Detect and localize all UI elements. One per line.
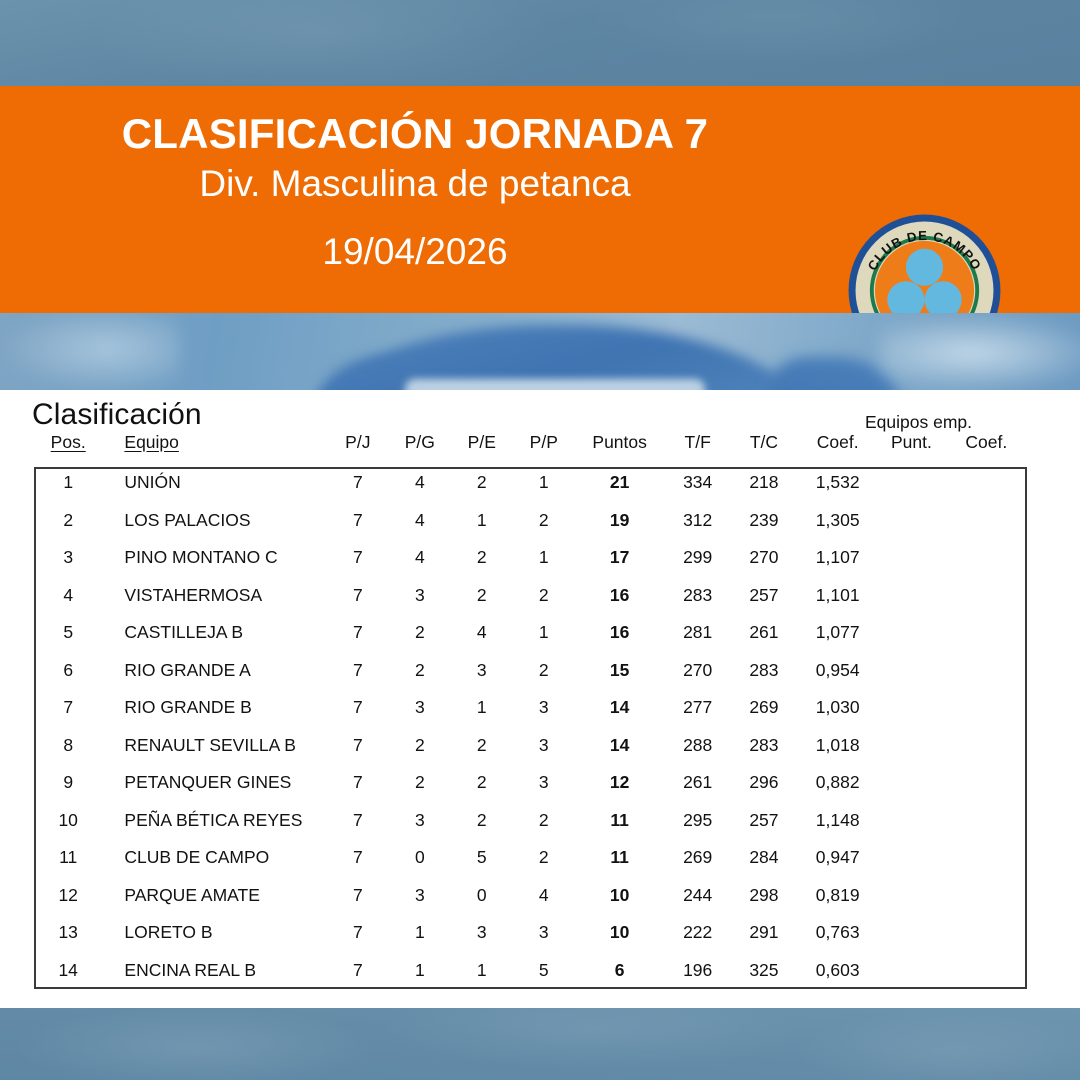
poster-root: CLASIFICACIÓN JORNADA 7 Div. Masculina d…: [0, 0, 1080, 1080]
cell-coef: 1,532: [797, 464, 878, 502]
cell-tc: 325: [731, 952, 797, 990]
cell-pe: 4: [451, 614, 513, 652]
table-row: 9PETANQUER GINES7223122612960,882: [34, 764, 1028, 802]
cell-emp-coef: [945, 464, 1028, 502]
cell-pj: 7: [327, 764, 389, 802]
cell-pj: 7: [327, 877, 389, 915]
col-header-equipo: Equipo: [102, 432, 326, 464]
cell-equipo: RIO GRANDE A: [102, 652, 326, 690]
col-header-emp-punt: Punt.: [878, 432, 944, 464]
cell-pe: 1: [451, 952, 513, 990]
cell-equipo: LORETO B: [102, 914, 326, 952]
cell-coef: 0,763: [797, 914, 878, 952]
cell-pp: 1: [513, 614, 575, 652]
page-title: CLASIFICACIÓN JORNADA 7: [122, 110, 708, 157]
cell-pj: 7: [327, 464, 389, 502]
col-header-pe: P/E: [451, 432, 513, 464]
cell-equipo: LOS PALACIOS: [102, 502, 326, 540]
cell-pg: 4: [389, 502, 451, 540]
cell-pos: 13: [34, 914, 102, 952]
cell-pg: 1: [389, 914, 451, 952]
standings-tbody: 1UNIÓN7421213342181,5322LOS PALACIOS7412…: [34, 464, 1028, 989]
cell-puntos: 19: [575, 502, 665, 540]
cell-pp: 3: [513, 914, 575, 952]
cell-pos: 4: [34, 577, 102, 615]
page-subtitle: Div. Masculina de petanca: [199, 161, 630, 207]
cell-pj: 7: [327, 689, 389, 727]
cell-tc: 291: [731, 914, 797, 952]
middle-photo-band: [0, 313, 1080, 390]
cell-tc: 284: [731, 839, 797, 877]
cell-puntos: 16: [575, 577, 665, 615]
cell-pp: 3: [513, 764, 575, 802]
col-header-emp-coef: Coef.: [945, 432, 1028, 464]
cell-pos: 8: [34, 727, 102, 765]
cell-pg: 3: [389, 802, 451, 840]
cell-tc: 296: [731, 764, 797, 802]
cell-tf: 269: [665, 839, 731, 877]
standings-table: Pos. Equipo P/J P/G P/E P/P Puntos T/F T…: [34, 432, 1028, 989]
cell-pos: 12: [34, 877, 102, 915]
cell-pos: 1: [34, 464, 102, 502]
cell-pp: 1: [513, 464, 575, 502]
cell-pos: 9: [34, 764, 102, 802]
photo-boule-rim: [405, 379, 705, 390]
cell-pj: 7: [327, 539, 389, 577]
cell-puntos: 11: [575, 839, 665, 877]
cell-tf: 334: [665, 464, 731, 502]
cell-emp-coef: [945, 614, 1028, 652]
cell-coef: 1,305: [797, 502, 878, 540]
cell-pos: 10: [34, 802, 102, 840]
cell-pj: 7: [327, 914, 389, 952]
cell-emp-punt: [878, 764, 944, 802]
cell-equipo: ENCINA REAL B: [102, 952, 326, 990]
cell-pos: 3: [34, 539, 102, 577]
cell-pg: 3: [389, 877, 451, 915]
header-text-block: CLASIFICACIÓN JORNADA 7 Div. Masculina d…: [0, 86, 830, 313]
cell-emp-coef: [945, 577, 1028, 615]
cell-tf: 222: [665, 914, 731, 952]
cell-puntos: 10: [575, 914, 665, 952]
cell-emp-punt: [878, 727, 944, 765]
cell-emp-coef: [945, 839, 1028, 877]
cell-pg: 0: [389, 839, 451, 877]
cell-puntos: 14: [575, 727, 665, 765]
cell-puntos: 21: [575, 464, 665, 502]
cell-coef: 1,148: [797, 802, 878, 840]
cell-equipo: PINO MONTANO C: [102, 539, 326, 577]
cell-emp-coef: [945, 802, 1028, 840]
col-header-pj: P/J: [327, 432, 389, 464]
cell-emp-punt: [878, 464, 944, 502]
cell-pe: 2: [451, 577, 513, 615]
header-banner: CLASIFICACIÓN JORNADA 7 Div. Masculina d…: [0, 86, 1080, 313]
cell-pg: 2: [389, 652, 451, 690]
table-row: 12PARQUE AMATE7304102442980,819: [34, 877, 1028, 915]
cell-tf: 283: [665, 577, 731, 615]
table-row: 8RENAULT SEVILLA B7223142882831,018: [34, 727, 1028, 765]
cell-tc: 298: [731, 877, 797, 915]
cell-tc: 261: [731, 614, 797, 652]
cell-pos: 2: [34, 502, 102, 540]
table-row: 6RIO GRANDE A7232152702830,954: [34, 652, 1028, 690]
cell-pg: 4: [389, 464, 451, 502]
cell-emp-coef: [945, 727, 1028, 765]
cell-pe: 2: [451, 464, 513, 502]
photo-highlight-left: [0, 313, 180, 390]
cell-equipo: RIO GRANDE B: [102, 689, 326, 727]
col-header-puntos: Puntos: [575, 432, 665, 464]
table-row: 2LOS PALACIOS7412193122391,305: [34, 502, 1028, 540]
cell-tf: 270: [665, 652, 731, 690]
cell-tf: 261: [665, 764, 731, 802]
cell-emp-punt: [878, 689, 944, 727]
cell-pe: 5: [451, 839, 513, 877]
table-row: 11CLUB DE CAMPO7052112692840,947: [34, 839, 1028, 877]
cell-pos: 7: [34, 689, 102, 727]
table-row: 5CASTILLEJA B7241162812611,077: [34, 614, 1028, 652]
standings-header-row: Pos. Equipo P/J P/G P/E P/P Puntos T/F T…: [34, 432, 1028, 464]
cell-coef: 0,603: [797, 952, 878, 990]
cell-coef: 1,018: [797, 727, 878, 765]
cell-emp-punt: [878, 877, 944, 915]
cell-tf: 196: [665, 952, 731, 990]
cell-equipo: CASTILLEJA B: [102, 614, 326, 652]
cell-emp-punt: [878, 802, 944, 840]
cell-emp-coef: [945, 877, 1028, 915]
cell-tf: 244: [665, 877, 731, 915]
cell-emp-coef: [945, 502, 1028, 540]
table-row: 10PEÑA BÉTICA REYES7322112952571,148: [34, 802, 1028, 840]
cell-pe: 1: [451, 689, 513, 727]
cell-puntos: 6: [575, 952, 665, 990]
cell-equipo: UNIÓN: [102, 464, 326, 502]
cell-equipo: VISTAHERMOSA: [102, 577, 326, 615]
cell-pp: 3: [513, 689, 575, 727]
tie-break-group-header: Equipos emp.: [865, 412, 972, 433]
cell-tc: 257: [731, 577, 797, 615]
cell-tc: 257: [731, 802, 797, 840]
cell-tc: 218: [731, 464, 797, 502]
cell-tc: 283: [731, 727, 797, 765]
cell-coef: 0,882: [797, 764, 878, 802]
cell-pg: 2: [389, 764, 451, 802]
cell-pj: 7: [327, 502, 389, 540]
cell-emp-punt: [878, 539, 944, 577]
cell-equipo: RENAULT SEVILLA B: [102, 727, 326, 765]
cell-pe: 0: [451, 877, 513, 915]
cell-pe: 3: [451, 652, 513, 690]
cell-pp: 2: [513, 802, 575, 840]
cell-equipo: PEÑA BÉTICA REYES: [102, 802, 326, 840]
cell-pe: 2: [451, 802, 513, 840]
cell-pg: 1: [389, 952, 451, 990]
cell-pp: 2: [513, 839, 575, 877]
tie-break-group-label: Equipos emp.: [865, 412, 972, 432]
top-photo-band: [0, 0, 1080, 86]
cell-pos: 6: [34, 652, 102, 690]
cell-pp: 5: [513, 952, 575, 990]
cell-pos: 11: [34, 839, 102, 877]
table-row: 4VISTAHERMOSA7322162832571,101: [34, 577, 1028, 615]
cell-puntos: 14: [575, 689, 665, 727]
cell-emp-punt: [878, 652, 944, 690]
bottom-photo-band: [0, 1008, 1080, 1080]
cell-tf: 295: [665, 802, 731, 840]
cell-emp-coef: [945, 764, 1028, 802]
cell-pp: 1: [513, 539, 575, 577]
col-header-tc: T/C: [731, 432, 797, 464]
cell-equipo: PARQUE AMATE: [102, 877, 326, 915]
cell-emp-punt: [878, 502, 944, 540]
cell-emp-punt: [878, 614, 944, 652]
cell-emp-coef: [945, 952, 1028, 990]
page-date: 19/04/2026: [322, 229, 507, 275]
standings-thead: Pos. Equipo P/J P/G P/E P/P Puntos T/F T…: [34, 432, 1028, 464]
cell-emp-punt: [878, 577, 944, 615]
cell-tf: 281: [665, 614, 731, 652]
cell-emp-punt: [878, 914, 944, 952]
cell-pos: 5: [34, 614, 102, 652]
cell-coef: 0,947: [797, 839, 878, 877]
cell-puntos: 10: [575, 877, 665, 915]
section-title: Clasificación: [32, 398, 202, 432]
content-sheet: Clasificación Equipos emp. Pos. Equipo P…: [0, 390, 1080, 1008]
table-row: 1UNIÓN7421213342181,532: [34, 464, 1028, 502]
cell-tf: 312: [665, 502, 731, 540]
cell-pp: 4: [513, 877, 575, 915]
cell-pg: 2: [389, 727, 451, 765]
cell-equipo: PETANQUER GINES: [102, 764, 326, 802]
cell-coef: 1,107: [797, 539, 878, 577]
cell-pg: 4: [389, 539, 451, 577]
cell-pe: 2: [451, 539, 513, 577]
table-row: 7RIO GRANDE B7313142772691,030: [34, 689, 1028, 727]
cell-coef: 0,819: [797, 877, 878, 915]
cell-pg: 3: [389, 689, 451, 727]
cell-pj: 7: [327, 839, 389, 877]
cell-tc: 269: [731, 689, 797, 727]
cell-pe: 2: [451, 764, 513, 802]
cell-emp-punt: [878, 839, 944, 877]
cell-pp: 2: [513, 652, 575, 690]
cell-puntos: 17: [575, 539, 665, 577]
cell-emp-coef: [945, 914, 1028, 952]
cell-emp-punt: [878, 952, 944, 990]
cell-emp-coef: [945, 652, 1028, 690]
cell-puntos: 16: [575, 614, 665, 652]
cell-pp: 2: [513, 502, 575, 540]
cell-pe: 2: [451, 727, 513, 765]
cell-pj: 7: [327, 952, 389, 990]
cell-emp-coef: [945, 539, 1028, 577]
col-header-tf: T/F: [665, 432, 731, 464]
cell-tf: 299: [665, 539, 731, 577]
photo-highlight-right: [880, 313, 1080, 390]
cell-emp-coef: [945, 689, 1028, 727]
cell-pj: 7: [327, 727, 389, 765]
table-row: 13LORETO B7133102222910,763: [34, 914, 1028, 952]
col-header-coef: Coef.: [797, 432, 878, 464]
cell-pg: 3: [389, 577, 451, 615]
cell-pe: 1: [451, 502, 513, 540]
cell-coef: 1,101: [797, 577, 878, 615]
cell-pe: 3: [451, 914, 513, 952]
cell-pj: 7: [327, 614, 389, 652]
col-header-pg: P/G: [389, 432, 451, 464]
cell-pg: 2: [389, 614, 451, 652]
cell-puntos: 12: [575, 764, 665, 802]
cell-coef: 1,077: [797, 614, 878, 652]
col-header-pos: Pos.: [34, 432, 102, 464]
cell-equipo: CLUB DE CAMPO: [102, 839, 326, 877]
cell-pj: 7: [327, 577, 389, 615]
cell-tc: 239: [731, 502, 797, 540]
col-header-pp: P/P: [513, 432, 575, 464]
cell-tc: 270: [731, 539, 797, 577]
cell-coef: 0,954: [797, 652, 878, 690]
cell-pj: 7: [327, 802, 389, 840]
cell-coef: 1,030: [797, 689, 878, 727]
cell-tc: 283: [731, 652, 797, 690]
cell-pp: 2: [513, 577, 575, 615]
cell-tf: 288: [665, 727, 731, 765]
cell-puntos: 15: [575, 652, 665, 690]
cell-tf: 277: [665, 689, 731, 727]
cell-pos: 14: [34, 952, 102, 990]
cell-puntos: 11: [575, 802, 665, 840]
table-row: 3PINO MONTANO C7421172992701,107: [34, 539, 1028, 577]
cell-pj: 7: [327, 652, 389, 690]
table-row: 14ENCINA REAL B711561963250,603: [34, 952, 1028, 990]
cell-pp: 3: [513, 727, 575, 765]
